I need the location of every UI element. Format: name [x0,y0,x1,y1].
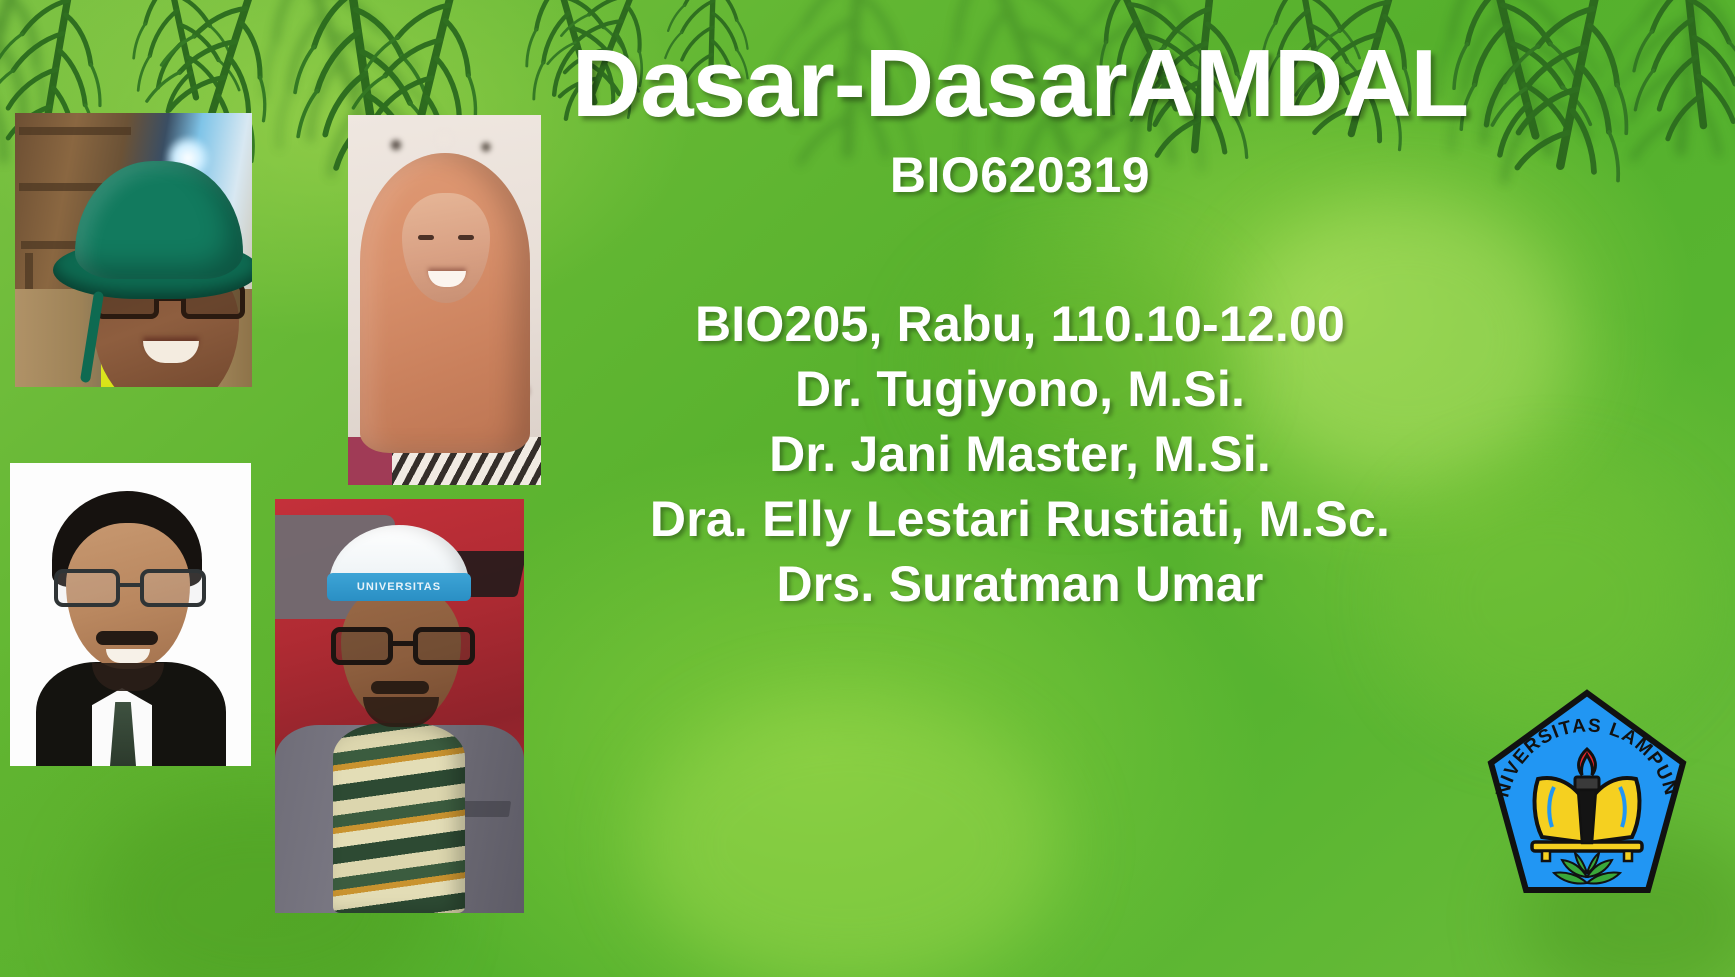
schedule-line: BIO205, Rabu, 110.10-12.00 [520,292,1520,357]
slide-text-block: Dasar-DasarAMDAL BIO620319 BIO205, Rabu,… [520,34,1520,617]
lecturer-name: Drs. Suratman Umar [520,552,1520,617]
page-title: Dasar-DasarAMDAL [520,34,1520,134]
bokeh-blob [640,700,1060,977]
course-code: BIO620319 [520,146,1520,204]
lecturer-name: Dra. Elly Lestari Rustiati, M.Sc. [520,487,1520,552]
lecturer-photo-hijab [348,115,541,485]
lecturer-photo-formal-suit [10,463,251,766]
lecturer-photo-green-hat [15,113,252,387]
lecturer-name: Dr. Tugiyono, M.Si. [520,357,1520,422]
universitas-lampung-logo: UNIVERSITAS LAMPUNG [1482,687,1692,912]
slide-canvas: UNIVERSITAS Dasar-DasarAMDAL BIO620319 B… [0,0,1735,977]
lecturer-name: Dr. Jani Master, M.Si. [520,422,1520,487]
course-details: BIO205, Rabu, 110.10-12.00 Dr. Tugiyono,… [520,292,1520,617]
lecturer-photo-scarf-truck: UNIVERSITAS [275,499,524,913]
